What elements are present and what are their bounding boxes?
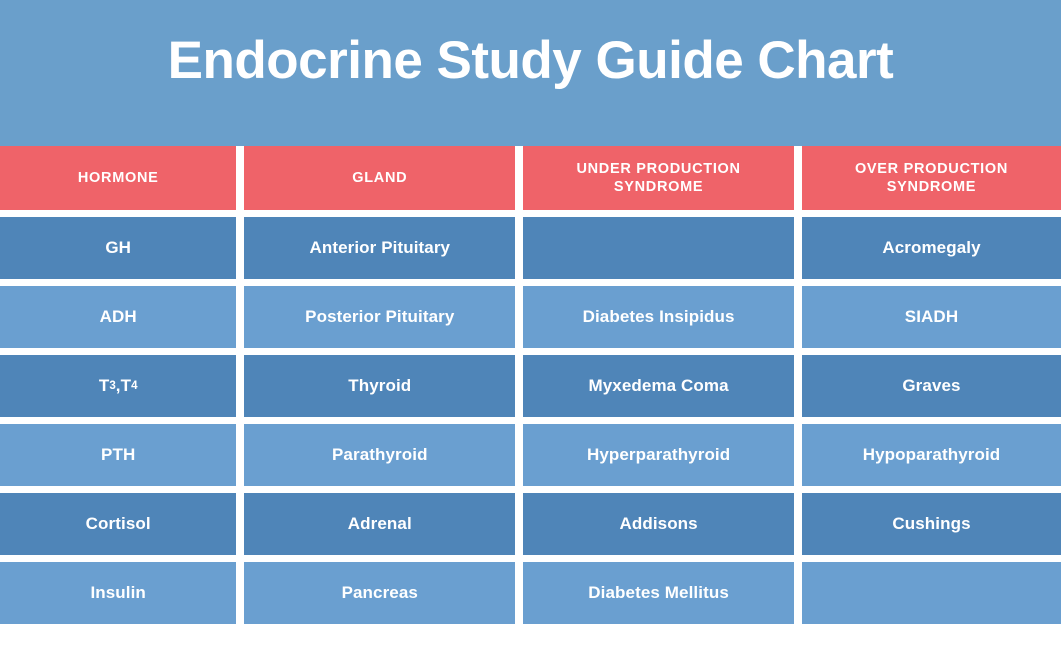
column-header-over-production: OVER PRODUCTION SYNDROME	[802, 146, 1061, 210]
header-body-gap	[0, 210, 1061, 217]
table-row: ADHPosterior PituitaryDiabetes Insipidus…	[0, 286, 1061, 348]
cell-hormone: ADH	[0, 286, 236, 348]
column-header-under-production-line1: UNDER PRODUCTION	[576, 160, 740, 178]
column-gutter	[794, 355, 802, 417]
cell-under-production: Diabetes Mellitus	[523, 562, 794, 624]
column-gutter	[236, 286, 244, 348]
cell-under-production: Addisons	[523, 493, 794, 555]
column-gutter	[515, 146, 523, 210]
row-gap	[0, 417, 1061, 424]
cell-over-production	[802, 562, 1061, 624]
cell-over-production: SIADH	[802, 286, 1061, 348]
row-gap	[0, 555, 1061, 562]
cell-under-production: Diabetes Insipidus	[523, 286, 794, 348]
column-gutter	[794, 217, 802, 279]
cell-gland: Pancreas	[244, 562, 515, 624]
cell-under-production: Hyperparathyroid	[523, 424, 794, 486]
cell-gland: Posterior Pituitary	[244, 286, 515, 348]
table-body: GHAnterior PituitaryAcromegalyADHPosteri…	[0, 217, 1061, 624]
cell-gland: Parathyroid	[244, 424, 515, 486]
column-header-hormone: HORMONE	[0, 146, 236, 210]
cell-under-production: Myxedema Coma	[523, 355, 794, 417]
column-gutter	[794, 493, 802, 555]
cell-gland: Thyroid	[244, 355, 515, 417]
cell-hormone: Insulin	[0, 562, 236, 624]
column-header-under-production: UNDER PRODUCTION SYNDROME	[523, 146, 794, 210]
column-gutter	[515, 355, 523, 417]
table-row: GHAnterior PituitaryAcromegaly	[0, 217, 1061, 279]
column-gutter	[515, 217, 523, 279]
cell-gland: Anterior Pituitary	[244, 217, 515, 279]
endocrine-table: HORMONE GLAND UNDER PRODUCTION SYNDROME …	[0, 146, 1061, 624]
cell-over-production: Graves	[802, 355, 1061, 417]
table-row: CortisolAdrenalAddisonsCushings	[0, 493, 1061, 555]
column-gutter	[236, 146, 244, 210]
column-header-under-production-line2: SYNDROME	[576, 178, 740, 196]
column-gutter	[515, 424, 523, 486]
cell-hormone: Cortisol	[0, 493, 236, 555]
column-gutter	[794, 286, 802, 348]
cell-over-production: Hypoparathyroid	[802, 424, 1061, 486]
table-row: T3,T4ThyroidMyxedema ComaGraves	[0, 355, 1061, 417]
cell-hormone: GH	[0, 217, 236, 279]
endocrine-study-guide-page: Endocrine Study Guide Chart HORMONE GLAN…	[0, 0, 1061, 653]
cell-over-production: Acromegaly	[802, 217, 1061, 279]
column-gutter	[794, 424, 802, 486]
cell-over-production: Cushings	[802, 493, 1061, 555]
cell-hormone: T3,T4	[0, 355, 236, 417]
cell-hormone: PTH	[0, 424, 236, 486]
column-gutter	[236, 217, 244, 279]
cell-gland: Adrenal	[244, 493, 515, 555]
row-gap	[0, 486, 1061, 493]
column-gutter	[236, 493, 244, 555]
column-gutter	[236, 562, 244, 624]
column-header-hormone-line1: HORMONE	[78, 169, 159, 187]
table-header-row: HORMONE GLAND UNDER PRODUCTION SYNDROME …	[0, 146, 1061, 210]
table-row: PTHParathyroidHyperparathyroidHypoparath…	[0, 424, 1061, 486]
column-header-over-production-line1: OVER PRODUCTION	[855, 160, 1008, 178]
column-gutter	[515, 286, 523, 348]
cell-under-production	[523, 217, 794, 279]
column-gutter	[236, 355, 244, 417]
column-gutter	[794, 146, 802, 210]
row-gap	[0, 279, 1061, 286]
column-gutter	[794, 562, 802, 624]
column-gutter	[236, 424, 244, 486]
column-header-gland: GLAND	[244, 146, 515, 210]
row-gap	[0, 348, 1061, 355]
column-gutter	[515, 562, 523, 624]
column-header-over-production-line2: SYNDROME	[855, 178, 1008, 196]
title-banner: Endocrine Study Guide Chart	[0, 0, 1061, 146]
column-gutter	[515, 493, 523, 555]
table-row: InsulinPancreasDiabetes Mellitus	[0, 562, 1061, 624]
page-title: Endocrine Study Guide Chart	[168, 34, 894, 87]
column-header-gland-line1: GLAND	[352, 169, 407, 187]
